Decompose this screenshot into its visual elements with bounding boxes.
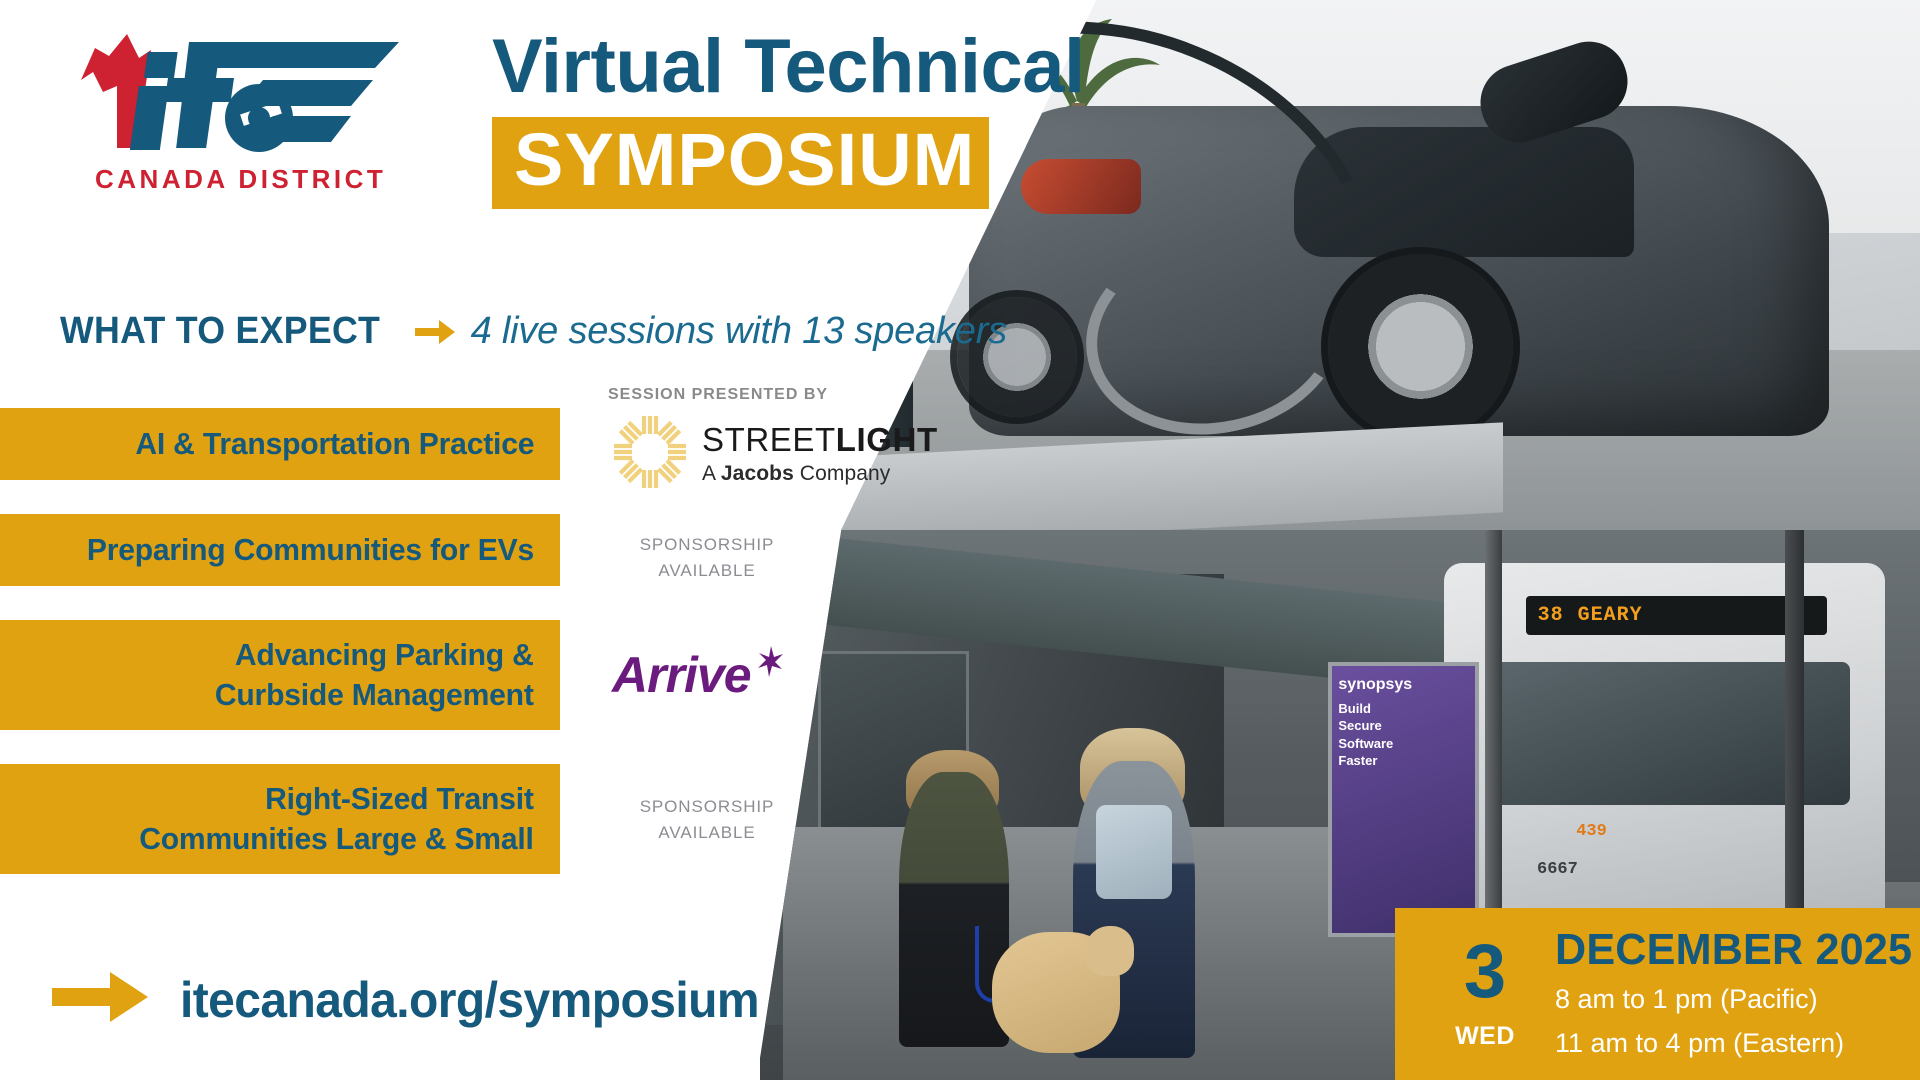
bus-destination-text: GEARY [1578,604,1643,627]
what-to-expect-label: WHAT TO EXPECT [60,310,380,353]
session-row: Advancing Parking & Curbside Management … [0,620,1060,730]
backpack [1096,805,1171,899]
jacobs-suffix: Company [794,462,891,485]
streetlight-name-light: STREET [702,421,836,458]
jacobs-prefix: A [702,462,721,485]
headline-band: SYMPOSIUM [492,117,989,209]
ad-line-2: Secure [1338,717,1469,735]
arrow-right-icon [415,316,455,348]
ite-canada-logo: CANADA DISTRICT [55,28,425,203]
session-sponsor-slot: STREETLIGHT A Jacobs Company [612,408,1012,495]
street-pole [1485,530,1502,937]
sponsorship-note-line-2: AVAILABLE [612,558,802,584]
bus-run-number: 439 [1576,822,1607,841]
sunburst-icon [612,414,688,495]
ad-line-1: Build [1338,700,1469,718]
bus-destination-sign: 38 GEARY [1526,596,1828,635]
date-day-of-week: WED [1431,1022,1539,1051]
session-sponsor-slot: Arrive [612,646,1012,700]
streetlight-name-bold: LIGHT [836,421,938,458]
jacobs-name: Jacobs [721,462,794,485]
session-sponsor-slot: SPONSORSHIP AVAILABLE [612,532,1012,583]
headline-line-2: SYMPOSIUM [514,123,975,197]
ad-line-3: Software [1338,735,1469,753]
ad-line-4: Faster [1338,752,1469,770]
session-title-line-2: Curbside Management [215,675,534,715]
cta-url-text[interactable]: itecanada.org/symposium [180,971,759,1029]
arrive-logo: Arrive [612,646,1012,700]
streetlight-logo: STREETLIGHT A Jacobs Company [612,408,1012,495]
session-title-line-1: AI & Transportation Practice [135,424,534,464]
session-row: Right-Sized Transit Communities Large & … [0,764,1060,874]
session-bar-parking-curbside[interactable]: Advancing Parking & Curbside Management [0,620,560,730]
event-date-badge: 3 WED DECEMBER 2025 8 am to 1 pm (Pacifi… [1395,908,1920,1080]
date-time-pacific: 8 am to 1 pm (Pacific) [1555,979,1920,1020]
logo-subtitle: CANADA DISTRICT [95,164,386,195]
session-presented-by-label: SESSION PRESENTED BY [608,386,828,404]
session-title-line-1: Preparing Communities for EVs [87,530,534,570]
bus-route-number: 38 [1538,604,1564,627]
what-to-expect-value: 4 live sessions with 13 speakers [471,310,1007,353]
ad-brand: synopsys [1338,674,1469,696]
arrow-right-icon [52,968,150,1031]
content-panel: CANADA DISTRICT Virtual Technical SYMPOS… [0,0,1060,1080]
sponsorship-available-note: SPONSORSHIP AVAILABLE [612,532,802,583]
poster-canvas: 38 GEARY 439 6667 synopsys Build Secure … [0,0,1920,1080]
session-title-line-1: Right-Sized Transit [139,779,534,819]
session-title-line-2: Communities Large & Small [139,819,534,859]
bus-fleet-number: 6667 [1537,860,1578,879]
sparkle-icon [749,644,785,685]
session-list: AI & Transportation Practice [0,408,1060,908]
date-day-number: 3 [1431,937,1539,1007]
session-bar-right-sized-transit[interactable]: Right-Sized Transit Communities Large & … [0,764,560,874]
sponsorship-available-note: SPONSORSHIP AVAILABLE [612,794,802,845]
session-title-line-1: Advancing Parking & [215,635,534,675]
dog-head [1085,926,1134,976]
sponsorship-note-line-2: AVAILABLE [612,820,802,846]
sponsorship-note-line-1: SPONSORSHIP [612,794,802,820]
what-to-expect-row: WHAT TO EXPECT 4 live sessions with 13 s… [60,310,1007,353]
date-day-column: 3 WED [1431,937,1539,1052]
headline-line-1: Virtual Technical [492,28,1085,106]
session-bar-preparing-ev[interactable]: Preparing Communities for EVs [0,514,560,586]
session-row: Preparing Communities for EVs SPONSORSHI… [0,514,1060,586]
date-month-year: DECEMBER 2025 [1555,925,1912,975]
sponsorship-note-line-1: SPONSORSHIP [612,532,802,558]
bus-shelter-ad: synopsys Build Secure Software Faster [1328,662,1479,937]
headline-block: Virtual Technical SYMPOSIUM [492,28,1085,209]
session-sponsor-slot: SPONSORSHIP AVAILABLE [612,794,1012,845]
date-details: DECEMBER 2025 8 am to 1 pm (Pacific) 11 … [1555,925,1920,1064]
arrive-wordmark: Arrive [612,650,751,700]
session-bar-ai-transportation[interactable]: AI & Transportation Practice [0,408,560,480]
session-row: AI & Transportation Practice [0,408,1060,480]
date-time-eastern: 11 am to 4 pm (Eastern) [1555,1023,1920,1064]
cta-url-row[interactable]: itecanada.org/symposium [52,968,783,1031]
